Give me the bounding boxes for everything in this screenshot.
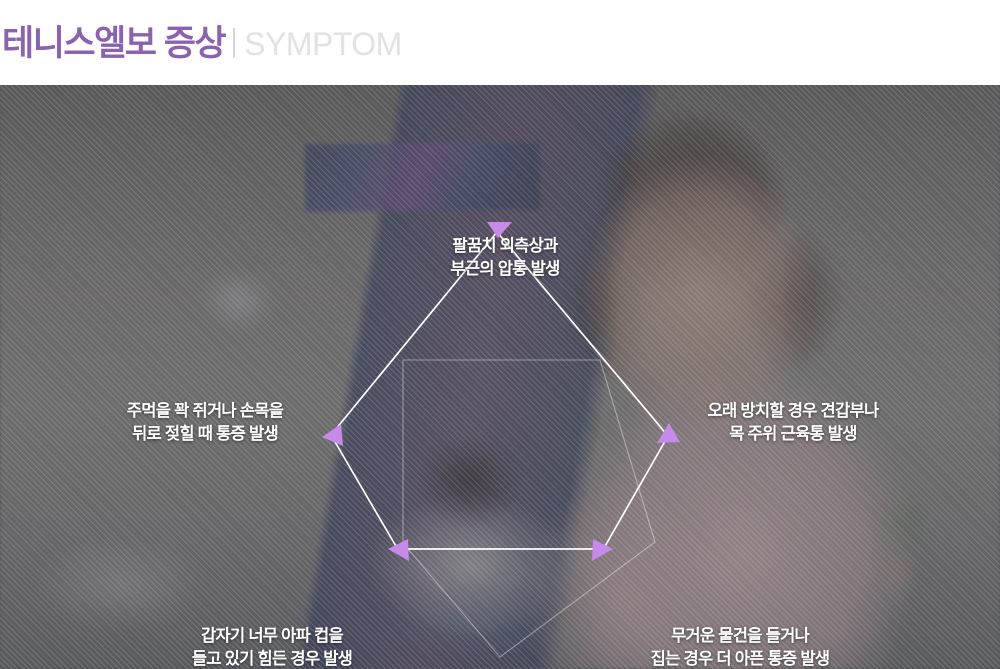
callout-left-line1: 주먹을 꽉 쥐거나 손목을: [127, 400, 283, 423]
arrowhead-bottom-right: [592, 539, 613, 561]
callout-bottom-right: 무거운 물건을 들거나 집는 경우 더 아픈 통증 발생: [651, 625, 830, 669]
callout-right-line1: 오래 방치할 경우 견갑부나: [708, 400, 879, 423]
callout-bottom-left-line2: 들고 있기 힘든 경우 발생: [192, 648, 352, 669]
page-title: 테니스엘보 증상: [2, 26, 225, 61]
page-subtitle: SYMPTOM: [244, 28, 402, 60]
callout-top-line1: 팔꿈치 외측상과: [450, 235, 559, 258]
hero-photo-panel: 팔꿈치 외측상과 부근의 압통 발생 주먹을 꽉 쥐거나 손목을 뒤로 젖힐 때…: [0, 85, 1000, 669]
arrowhead-left: [322, 424, 343, 446]
title-divider: [233, 28, 235, 58]
callout-bottom-left-line1: 갑자기 너무 아파 컵을: [192, 625, 352, 648]
callout-bottom-right-line1: 무거운 물건을 들거나: [651, 625, 830, 648]
callout-bottom-right-line2: 집는 경우 더 아픈 통증 발생: [651, 648, 830, 669]
callout-top-line2: 부근의 압통 발생: [450, 258, 559, 281]
page-header: 테니스엘보 증상 SYMPTOM: [0, 0, 1000, 85]
edge-right-to-bottomright: [604, 436, 668, 548]
callout-bottom-left: 갑자기 너무 아파 컵을 들고 있기 힘든 경우 발생: [192, 625, 352, 669]
symptom-diagram: [0, 85, 1000, 669]
header-title-group: 테니스엘보 증상 SYMPTOM: [0, 25, 402, 61]
arrowhead-bottom-left: [388, 539, 409, 561]
callout-left-line2: 뒤로 젖힐 때 통증 발생: [127, 423, 283, 446]
callout-top: 팔꿈치 외측상과 부근의 압통 발생: [450, 235, 559, 282]
edge-left-to-bottomleft: [331, 435, 397, 548]
callout-right-line2: 목 주위 근육통 발생: [708, 423, 879, 446]
ghost-hexagon: [403, 360, 655, 657]
callout-right: 오래 방치할 경우 견갑부나 목 주위 근육통 발생: [708, 400, 879, 447]
callout-left: 주먹을 꽉 쥐거나 손목을 뒤로 젖힐 때 통증 발생: [127, 400, 283, 447]
